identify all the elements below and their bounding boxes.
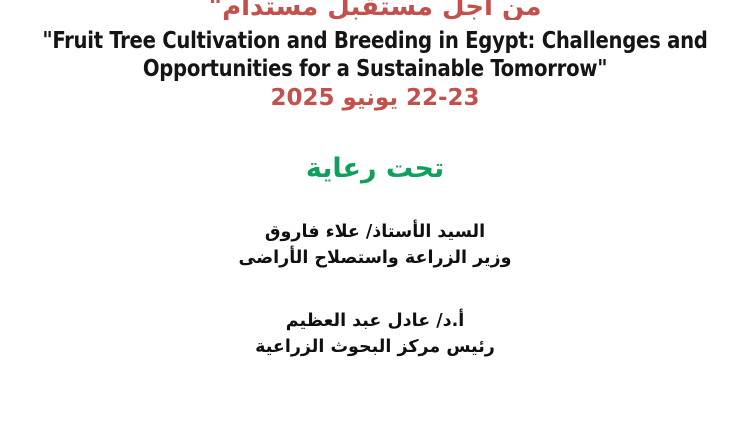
arabic-subtitle-line: من اجل مستقبل مستدام"	[0, 0, 750, 20]
patron-minister: السيد الأستاذ/ علاء فاروق وزير الزراعة و…	[0, 219, 750, 271]
patron-role: رئيس مركز البحوث الزراعية	[0, 334, 750, 360]
patron-name: السيد الأستاذ/ علاء فاروق	[0, 219, 750, 245]
patron-name: أ.د/ عادل عبد العظيم	[0, 308, 750, 334]
poster-page: من اجل مستقبل مستدام" "Fruit Tree Cultiv…	[0, 0, 750, 430]
patronage-header: تحت رعاية	[0, 152, 750, 186]
english-title: "Fruit Tree Cultivation and Breeding in …	[26, 26, 724, 82]
english-title-line-2: Opportunities for a Sustainable Tomorrow…	[26, 54, 724, 82]
english-title-line-1: "Fruit Tree Cultivation and Breeding in …	[26, 26, 724, 54]
title-block: من اجل مستقبل مستدام" "Fruit Tree Cultiv…	[0, 0, 750, 112]
patron-arc-president: أ.د/ عادل عبد العظيم رئيس مركز البحوث ال…	[0, 308, 750, 360]
conference-date: 22-23 يونيو 2025	[0, 82, 750, 112]
patron-role: وزير الزراعة واستصلاح الأراضى	[0, 245, 750, 271]
